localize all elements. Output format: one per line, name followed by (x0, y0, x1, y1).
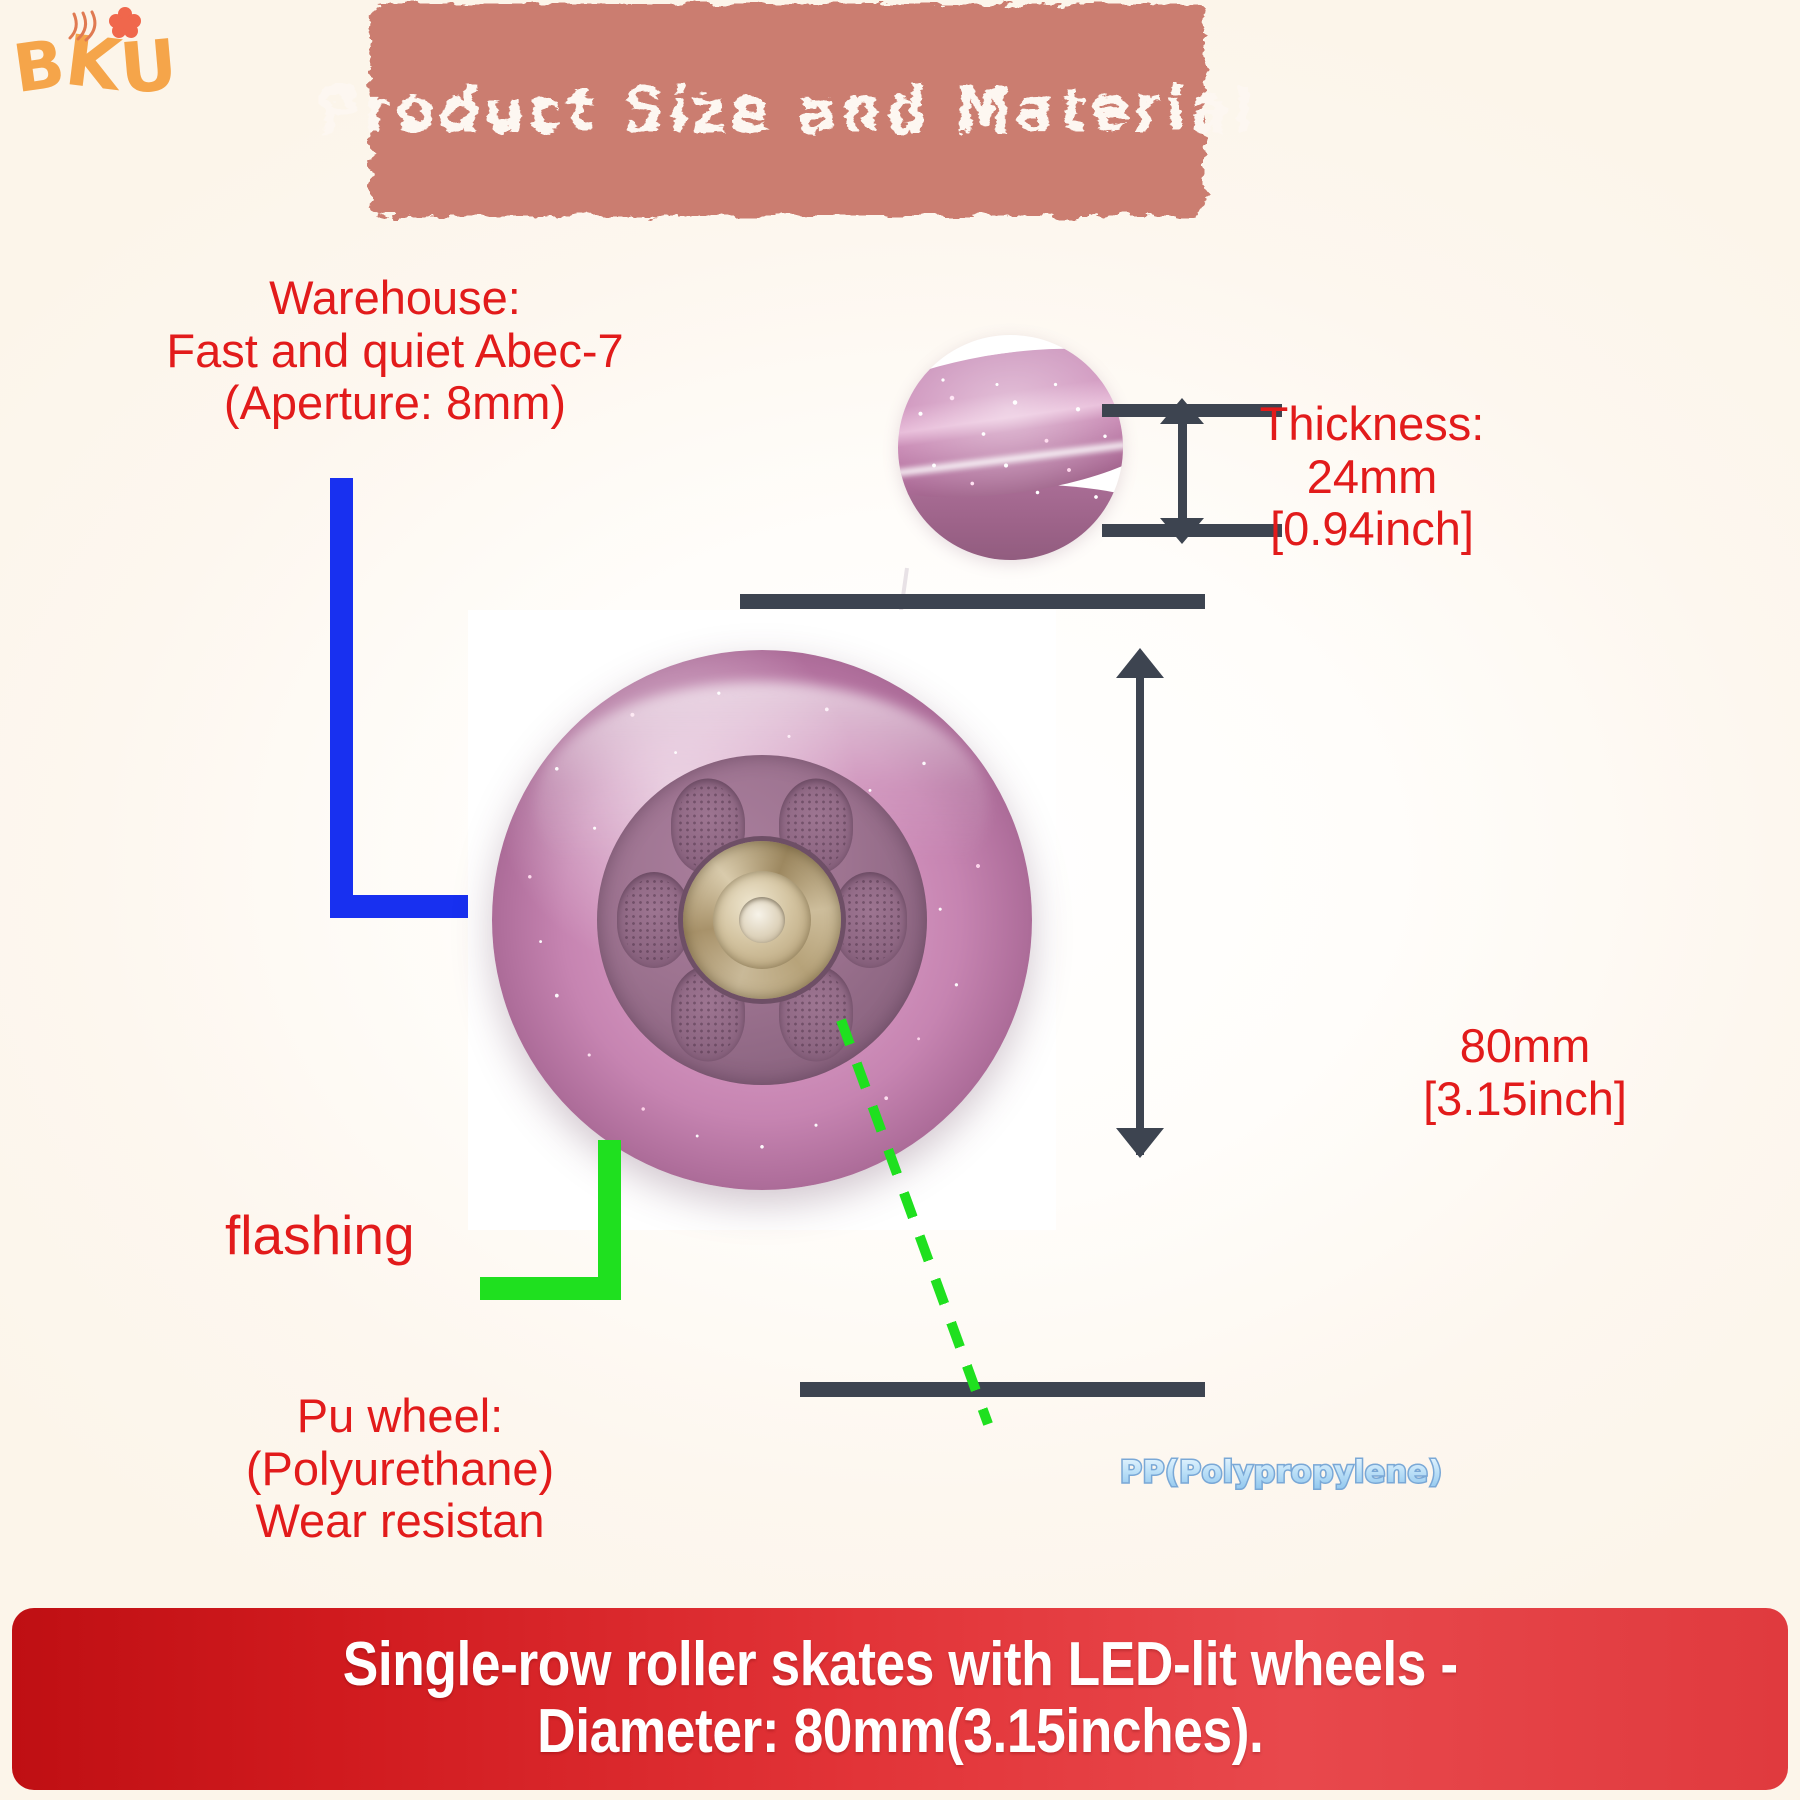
diameter-bar-top (740, 594, 1205, 609)
pu-wheel-pointer-green (480, 1140, 640, 1300)
wheel-tyre (492, 650, 1032, 1190)
thickness-line-3: [0.94inch] (1232, 503, 1512, 556)
title-banner: Product Size and Material (370, 4, 1205, 216)
diameter-bar-bottom (800, 1382, 1205, 1397)
warehouse-line-3: (Aperture: 8mm) (150, 377, 640, 430)
thickness-arrowhead-up (1160, 398, 1204, 424)
caption-line-2: Diameter: 80mm(3.15inches). (537, 1699, 1263, 1766)
wave-lines-icon (64, 10, 108, 44)
annotation-flashing: flashing (225, 1205, 415, 1267)
thickness-line-1: Thickness: (1232, 398, 1512, 451)
tread-magnifier-inset (898, 335, 1123, 560)
brand-logo: B K U (8, 6, 208, 116)
diameter-line-2: [3.15inch] (1400, 1073, 1650, 1126)
diameter-arrowhead-up (1116, 648, 1164, 678)
hub-pocket (833, 872, 907, 968)
logo-letter-b: B (10, 31, 69, 103)
bearing-inner-race (713, 871, 811, 969)
warehouse-line-1: Warehouse: (150, 272, 640, 325)
pu-line-3: Wear resistan (150, 1495, 650, 1548)
warehouse-line-2: Fast and quiet Abec-7 (150, 325, 640, 378)
thickness-line-2: 24mm (1232, 451, 1512, 504)
product-photo (468, 610, 1056, 1230)
caption-bar: Single-row roller skates with LED-lit wh… (12, 1608, 1788, 1790)
caption-line-1: Single-row roller skates with LED-lit wh… (343, 1632, 1458, 1699)
annotation-warehouse: Warehouse: Fast and quiet Abec-7 (Apertu… (150, 272, 640, 430)
bearing-bore (739, 897, 785, 943)
pu-pointer-vertical (598, 1140, 621, 1300)
annotation-diameter: 80mm [3.15inch] (1400, 1020, 1650, 1125)
pu-pointer-horizontal (480, 1277, 621, 1300)
hub-pocket (617, 872, 691, 968)
diameter-arrow-line (1136, 655, 1144, 1155)
page-title: Product Size and Material (317, 74, 1257, 147)
flower-icon (108, 6, 142, 40)
wheel-hub (597, 755, 927, 1085)
infographic-page: B K U Product Size and Material Warehous… (0, 0, 1800, 1800)
thickness-arrowhead-down (1160, 518, 1204, 544)
annotation-thickness: Thickness: 24mm [0.94inch] (1232, 398, 1512, 556)
bearing-pointer-vertical (330, 478, 353, 918)
pu-line-2: (Polyurethane) (150, 1443, 650, 1496)
diameter-line-1: 80mm (1400, 1020, 1650, 1073)
pp-material-label: PP(Polypropylene) (1120, 1455, 1443, 1490)
diameter-arrowhead-down (1116, 1128, 1164, 1158)
annotation-pu-wheel: Pu wheel: (Polyurethane) Wear resistan (150, 1390, 650, 1548)
wheel-bearing (683, 841, 841, 999)
logo-letter-u: U (117, 30, 180, 105)
pu-line-1: Pu wheel: (150, 1390, 650, 1443)
